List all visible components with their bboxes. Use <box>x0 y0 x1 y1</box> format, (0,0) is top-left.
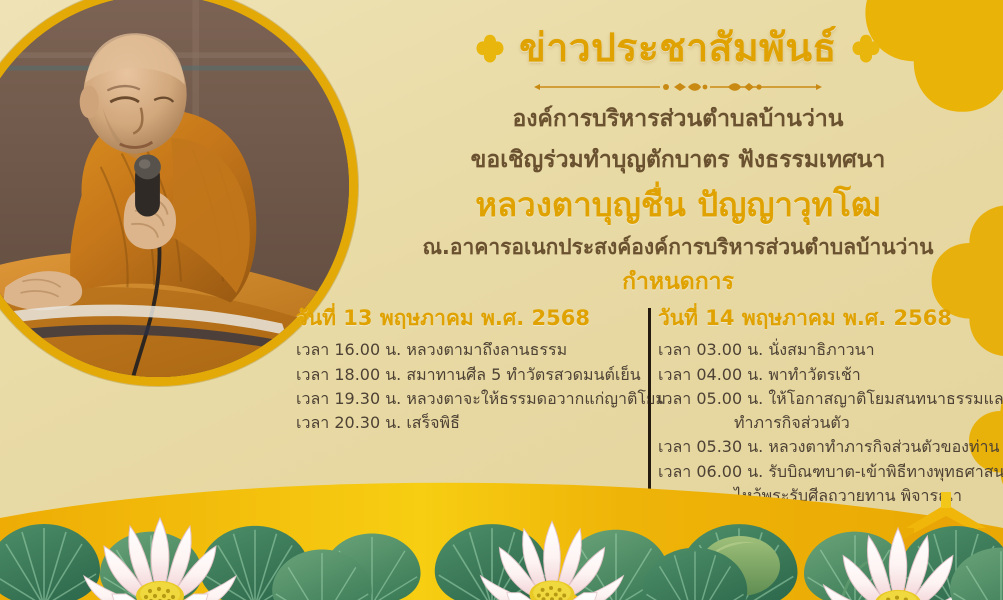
agenda-heading: กำหนดการ <box>378 269 978 297</box>
schedule-item: เวลา 04.00 น. พาทำวัตรเช้า <box>658 363 996 387</box>
schedule-item: เวลา 03.00 น. นั่งสมาธิภาวนา <box>658 338 996 362</box>
schedule-item: เวลา 05.00 น. ให้โอกาสญาติโยมสนทนาธรรมแล… <box>658 387 996 436</box>
schedule-item-continuation: ทำภารกิจส่วนตัว <box>658 411 996 435</box>
page-title: ข่าวประชาสัมพันธ์ <box>519 29 837 70</box>
schedule-item: เวลา 20.30 น. เสร็จพิธี <box>296 411 624 435</box>
title-row: ข่าวประชาสัมพันธ์ <box>378 22 978 76</box>
schedule-item: เวลา 06.00 น. รับบิณฑบาต-เข้าพิธีทางพุทธ… <box>658 460 996 533</box>
poster-canvas: ข่าวประชาสัมพันธ์ องค์การบริหารส่วนตำบลบ… <box>0 0 1003 600</box>
schedule-list-day1: เวลา 16.00 น. หลวงตามาถึงลานธรรม เวลา 18… <box>296 338 624 435</box>
schedule-item: เวลา 05.30 น. หลวงตาทำภารกิจส่วนตัวของท่… <box>658 435 996 459</box>
schedule-item: เวลา 19.30 น. หลวงตาจะให้ธรรมดอวากแก่ญาต… <box>296 387 624 411</box>
heading-block: ข่าวประชาสัมพันธ์ องค์การบริหารส่วนตำบลบ… <box>378 22 978 297</box>
lotus-seed-pod-icon <box>700 536 780 596</box>
quatrefoil-ornament-left-icon <box>475 34 505 64</box>
quatrefoil-ornament-right-icon <box>851 34 881 64</box>
schedule-date-day2: วันที่ 14 พฤษภาคม พ.ศ. 2568 <box>658 306 996 331</box>
schedule-item: เวลา 18.00 น. สมาทานศีล 5 ทำวัตรสวดมนต์เ… <box>296 363 624 387</box>
monk-name-line: หลวงตาบุญชื่น ปัญญาวุทโฒ <box>378 185 978 225</box>
ornate-divider-icon <box>532 79 824 95</box>
schedule-item-continuation: ไหว้พระรับศีลถวายทาน พิจารณา <box>658 484 996 508</box>
schedule-item-text: เวลา 05.00 น. ให้โอกาสญาติโยมสนทนาธรรมแล… <box>658 389 1003 408</box>
organization-line: องค์การบริหารส่วนตำบลบ้านว่าน <box>378 105 978 134</box>
schedule-item-continuation: อาหาร อนุโมทนาบุญให้พร <box>658 508 996 532</box>
schedule-section: วันที่ 13 พฤษภาคม พ.ศ. 2568 เวลา 16.00 น… <box>296 306 996 533</box>
schedule-column-day1: วันที่ 13 พฤษภาคม พ.ศ. 2568 เวลา 16.00 น… <box>296 306 640 435</box>
schedule-date-day1: วันที่ 13 พฤษภาคม พ.ศ. 2568 <box>296 306 624 331</box>
schedule-item: เวลา 16.00 น. หลวงตามาถึงลานธรรม <box>296 338 624 362</box>
schedule-column-day2: วันที่ 14 พฤษภาคม พ.ศ. 2568 เวลา 03.00 น… <box>640 306 996 533</box>
schedule-item-text: เวลา 06.00 น. รับบิณฑบาต-เข้าพิธีทางพุทธ… <box>658 462 1003 481</box>
invitation-line: ขอเชิญร่วมทำบุญตักบาตร ฟังธรรมเทศนา <box>378 146 978 175</box>
schedule-list-day2: เวลา 03.00 น. นั่งสมาธิภาวนา เวลา 04.00 … <box>658 338 996 533</box>
venue-line: ณ.อาคารอเนกประสงค์องค์การบริหารส่วนตำบลบ… <box>378 234 978 260</box>
